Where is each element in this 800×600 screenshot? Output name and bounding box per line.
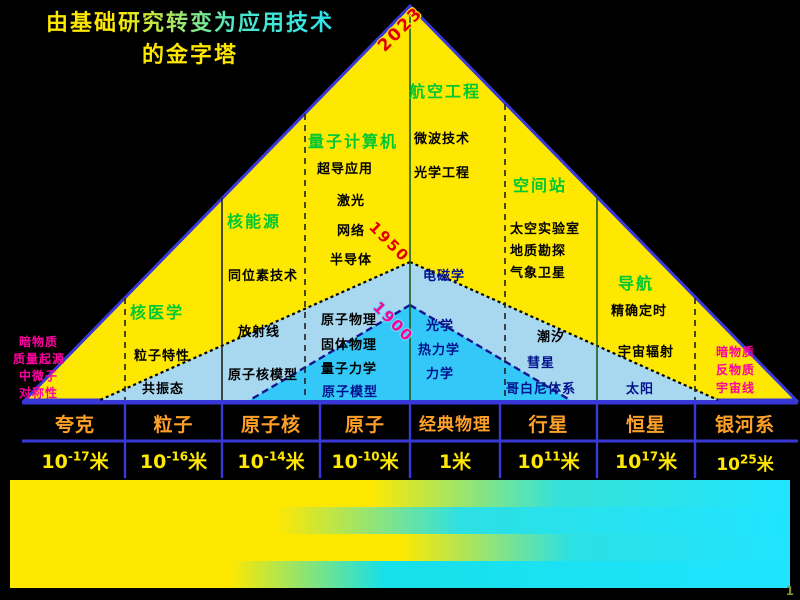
caption-line-3: 只有一段时间以后，当金字塔的应用部分 长高了，公众对奇怪的新现象熟悉了，他们才 xyxy=(10,534,790,561)
title-line-2: 的金字塔 xyxy=(0,40,380,72)
scale-value-exp: 25 xyxy=(740,452,757,466)
scale-name-atom: 原子 xyxy=(320,410,410,437)
label-nuclear-medicine: 核医学 xyxy=(130,299,184,323)
label-microwave: 微波技术 xyxy=(414,128,470,147)
scale-value-classical: 1米 xyxy=(410,447,500,474)
label-mechanics: 力学 xyxy=(426,363,454,382)
scale-value-exp: 17 xyxy=(641,450,658,464)
label-atomic-physics: 原子物理 xyxy=(321,309,377,328)
label-cosmic-ray: 宇宙线 xyxy=(716,379,755,396)
label-weather-sat: 气象卫星 xyxy=(510,262,566,281)
label-isotope: 同位素技术 xyxy=(228,265,298,284)
label-neutrino: 中微子 xyxy=(19,367,58,384)
label-mass-origin: 质量起源 xyxy=(13,350,65,367)
scale-value-unit: 米 xyxy=(188,451,207,473)
scale-name-star: 恒星 xyxy=(597,410,695,437)
label-geo-survey: 地质勘探 xyxy=(510,240,566,259)
scale-name-quark: 夸克 xyxy=(25,410,125,437)
scale-value-unit: 米 xyxy=(561,451,580,473)
label-thermodynamics: 热力学 xyxy=(418,339,460,358)
label-precise-time: 精确定时 xyxy=(611,300,667,319)
label-sun: 太阳 xyxy=(626,378,654,397)
scale-value-base: 10 xyxy=(517,451,543,473)
label-antimatter: 反物质 xyxy=(716,361,755,378)
scale-value-star: 1017米 xyxy=(597,447,695,474)
scale-value-base: 10 xyxy=(331,451,357,473)
slide-root: 由基础研究转变为应用技术 的金字塔 2023 1950 1900 航空工程 微波… xyxy=(0,0,800,600)
page-number: 1 xyxy=(786,584,794,598)
label-navigation: 导航 xyxy=(618,270,654,294)
scale-value-exp: -16 xyxy=(166,450,188,464)
scale-value-exp: -14 xyxy=(264,450,286,464)
label-quantum-mech: 量子力学 xyxy=(321,358,377,377)
label-dark-matter-right: 暗物质 xyxy=(716,343,755,360)
scale-name-planet: 行星 xyxy=(500,410,597,437)
scale-value-exp: -10 xyxy=(358,450,380,464)
scale-value-exp: 11 xyxy=(544,450,561,464)
scale-name-particle: 粒子 xyxy=(125,410,222,437)
label-superconductor: 超导应用 xyxy=(317,158,373,177)
scale-value-planet: 1011米 xyxy=(500,447,597,474)
label-semiconductor: 半导体 xyxy=(330,249,372,268)
caption-block: 由于新技术的出现，金字塔的应用部分 在不断地长高。基础研究不断地拓宽金字塔的底 … xyxy=(10,480,790,588)
label-optical-eng: 光学工程 xyxy=(414,162,470,181)
label-aerospace: 航空工程 xyxy=(409,78,481,102)
label-nuclear-energy: 核能源 xyxy=(227,208,281,232)
label-space-lab: 太空实验室 xyxy=(510,218,580,237)
label-comets: 彗星 xyxy=(527,352,555,371)
label-tides: 潮汐 xyxy=(537,326,565,345)
caption-line-2: 部，走到了最外面的角落； 有时候，基础研究 因为远离日常生活 而受到责难。 xyxy=(10,507,790,534)
scale-value-particle: 10-16米 xyxy=(125,447,222,474)
label-quantum-computer: 量子计算机 xyxy=(308,128,398,152)
scale-value-base: 10 xyxy=(140,451,166,473)
label-radiation: 放射线 xyxy=(238,321,280,340)
label-optics: 光学 xyxy=(426,315,454,334)
scale-value-base: 10 xyxy=(237,451,263,473)
scale-value-unit: 米 xyxy=(380,451,399,473)
scale-value-base: 1 xyxy=(439,451,452,473)
label-electromagnetism: 电磁学 xyxy=(423,265,465,284)
label-dark-matter-left: 暗物质 xyxy=(19,333,58,350)
label-atom-model: 原子模型 xyxy=(322,381,378,400)
scale-value-unit: 米 xyxy=(658,451,677,473)
scale-value-base: 10 xyxy=(41,451,67,473)
title-line-1: 由基础研究转变为应用技术 xyxy=(0,8,380,40)
scale-value-base: 10 xyxy=(615,451,641,473)
scale-value-unit: 米 xyxy=(757,455,774,475)
scale-value-unit: 米 xyxy=(90,451,109,473)
caption-line-1: 由于新技术的出现，金字塔的应用部分 在不断地长高。基础研究不断地拓宽金字塔的底 xyxy=(10,480,790,507)
scale-value-nucleus: 10-14米 xyxy=(222,447,320,474)
scale-value-base: 10 xyxy=(716,455,740,475)
scale-name-galaxy: 银河系 xyxy=(695,410,795,437)
label-symmetry: 对称性 xyxy=(19,384,58,401)
label-cosmic-rad: 宇宙辐射 xyxy=(618,341,674,360)
label-laser: 激光 xyxy=(337,190,365,209)
scale-value-unit: 米 xyxy=(452,451,471,473)
scale-value-atom: 10-10米 xyxy=(320,447,410,474)
label-particle-prop: 粒子特性 xyxy=(134,345,190,364)
caption-line-4: 看上去比较“实际”。我认为，没有任何理由 今后金字塔不会继续扩大和长高。 xyxy=(10,561,790,588)
scale-name-classical: 经典物理 xyxy=(410,410,500,435)
label-solid-state: 固体物理 xyxy=(321,334,377,353)
label-resonance: 共振态 xyxy=(142,378,184,397)
scale-value-quark: 10-17米 xyxy=(25,447,125,474)
scale-value-unit: 米 xyxy=(286,451,305,473)
scale-name-nucleus: 原子核 xyxy=(222,410,320,437)
label-space-station: 空间站 xyxy=(513,172,567,196)
label-nucleus-model: 原子核模型 xyxy=(228,364,298,383)
slide-title: 由基础研究转变为应用技术 的金字塔 xyxy=(0,8,380,72)
scale-value-galaxy: 1025米 xyxy=(695,450,795,475)
scale-value-exp: -17 xyxy=(68,450,90,464)
label-copernican: 哥白尼体系 xyxy=(506,378,576,397)
label-network: 网络 xyxy=(337,220,365,239)
